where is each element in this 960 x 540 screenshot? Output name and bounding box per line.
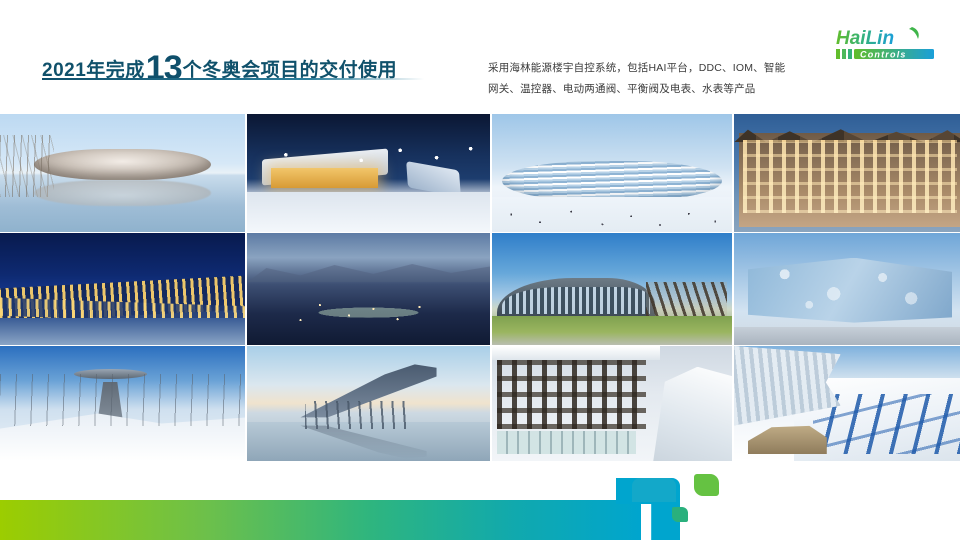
slide-footer [0, 458, 960, 540]
page-title: 2021年完成 13 个冬奥会项目的交付使用 [42, 48, 397, 82]
photo-national-stadium-birds-nest [0, 114, 245, 232]
photo-big-air-shougang-tower [0, 346, 245, 461]
photo-speed-skating-oval-ice-ribbon [492, 114, 732, 232]
photo-zhangjiakou-village-aerial [247, 233, 490, 345]
photo-biathlon-centre-night [247, 114, 490, 232]
title-underline-rule [42, 78, 424, 80]
footer-decoration-square-green-large [694, 474, 719, 496]
slide-header: 2021年完成 13 个冬奥会项目的交付使用 采用海林能源楼宇自控系统，包括HA… [0, 0, 960, 112]
leaf-icon [909, 27, 919, 39]
footer-gradient-bar [0, 500, 641, 540]
footer-decoration-step-top [632, 478, 676, 502]
photo-snow-forest-ski-slope [734, 346, 960, 461]
photo-water-cube-aquatics-centre [734, 233, 960, 345]
photo-ski-jump-ramp-reflection [247, 346, 490, 461]
photo-snowy-village-apartments [492, 346, 732, 461]
footer-decoration-square-green-small [672, 507, 688, 522]
description-line-1: 采用海林能源楼宇自控系统，包括HAI平台，DDC、IOM、智能 [488, 58, 840, 79]
slide-root: 2021年完成 13 个冬奥会项目的交付使用 采用海林能源楼宇自控系统，包括HA… [0, 0, 960, 540]
logo-icon: HaiLin Controls [834, 24, 938, 64]
project-photo-grid [0, 114, 960, 459]
svg-text:HaiLin: HaiLin [836, 28, 894, 49]
photo-convention-hall-daylight [492, 233, 732, 345]
photo-athletes-village-night [0, 233, 245, 345]
svg-text:Controls: Controls [860, 49, 907, 59]
hailin-controls-logo: HaiLin Controls [834, 24, 938, 64]
photo-resort-hotel-dusk [734, 114, 960, 232]
description-line-2: 网关、温控器、电动两通阀、平衡阀及电表、水表等产品 [488, 79, 840, 100]
description-block: 采用海林能源楼宇自控系统，包括HAI平台，DDC、IOM、智能 网关、温控器、电… [488, 58, 840, 100]
